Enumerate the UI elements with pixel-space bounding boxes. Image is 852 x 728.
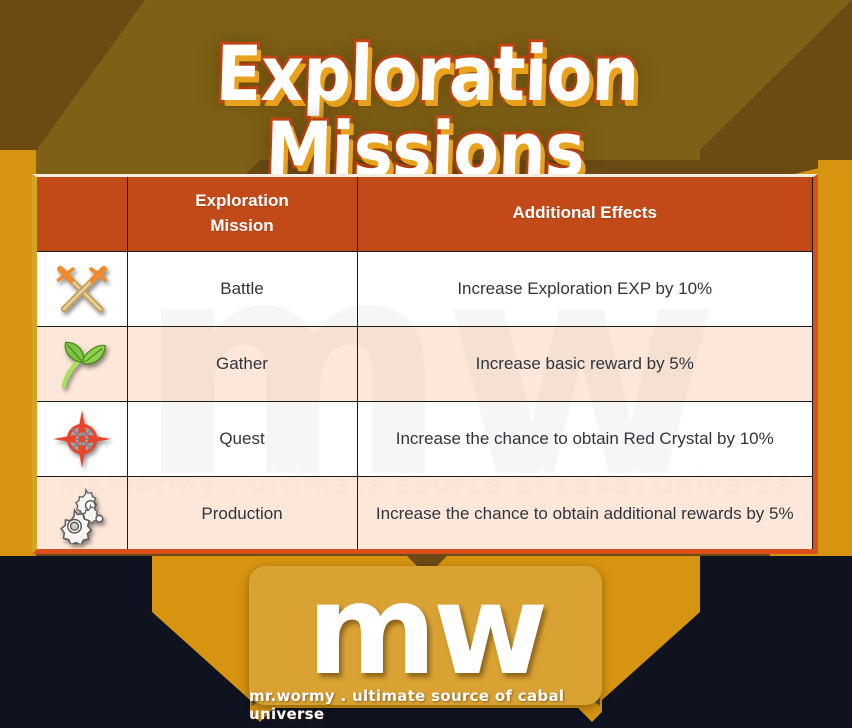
bg-gold-left-strip: [0, 150, 36, 556]
header-row: Exploration Mission Additional Effects: [37, 177, 813, 251]
header-mission-line2: Mission: [128, 214, 357, 239]
sprout-leaf-icon: [37, 327, 127, 401]
mission-effect-cell: Increase basic reward by 5%: [357, 326, 813, 401]
footer-logo: mw mr.wormy . ultimate source of cabal u…: [249, 566, 602, 705]
logo-tagline: mr.wormy . ultimate source of cabal univ…: [249, 687, 602, 723]
table-row: Production Increase the chance to obtain…: [37, 476, 813, 551]
table-row: Gather Increase basic reward by 5%: [37, 326, 813, 401]
row-icon-cell: [37, 476, 127, 551]
table-body: Battle Increase Exploration EXP by 10%: [37, 251, 813, 551]
row-icon-cell: [37, 326, 127, 401]
mission-effect-cell: Increase the chance to obtain Red Crysta…: [357, 401, 813, 476]
table-row: Quest Increase the chance to obtain Red …: [37, 401, 813, 476]
mission-effect-cell: Increase Exploration EXP by 10%: [357, 251, 813, 326]
header-mission-line1: Exploration: [128, 189, 357, 214]
mission-name-cell: Gather: [127, 326, 357, 401]
row-icon-cell: [37, 401, 127, 476]
page-title: Exploration Missions: [49, 36, 803, 188]
header-icon-column: [37, 177, 127, 251]
mission-name-cell: Quest: [127, 401, 357, 476]
row-icon-cell: [37, 251, 127, 326]
crossed-swords-icon: [37, 252, 127, 326]
table-row: Battle Increase Exploration EXP by 10%: [37, 251, 813, 326]
compass-rose-icon: [37, 402, 127, 476]
header-additional-effects: Additional Effects: [357, 177, 813, 251]
header-exploration-mission: Exploration Mission: [127, 177, 357, 251]
exploration-missions-table: Exploration Mission Additional Effects: [37, 177, 813, 551]
mission-effect-cell: Increase the chance to obtain additional…: [357, 476, 813, 551]
table-head: Exploration Mission Additional Effects: [37, 177, 813, 251]
logo-mark: mw: [307, 568, 545, 693]
missions-table-frame: mw mr.wormy . ultimate source of cabal u…: [32, 174, 818, 554]
title-container: Exploration Missions: [0, 36, 852, 188]
mission-name-cell: Production: [127, 476, 357, 551]
gears-icon: [37, 477, 127, 552]
mission-name-cell: Battle: [127, 251, 357, 326]
